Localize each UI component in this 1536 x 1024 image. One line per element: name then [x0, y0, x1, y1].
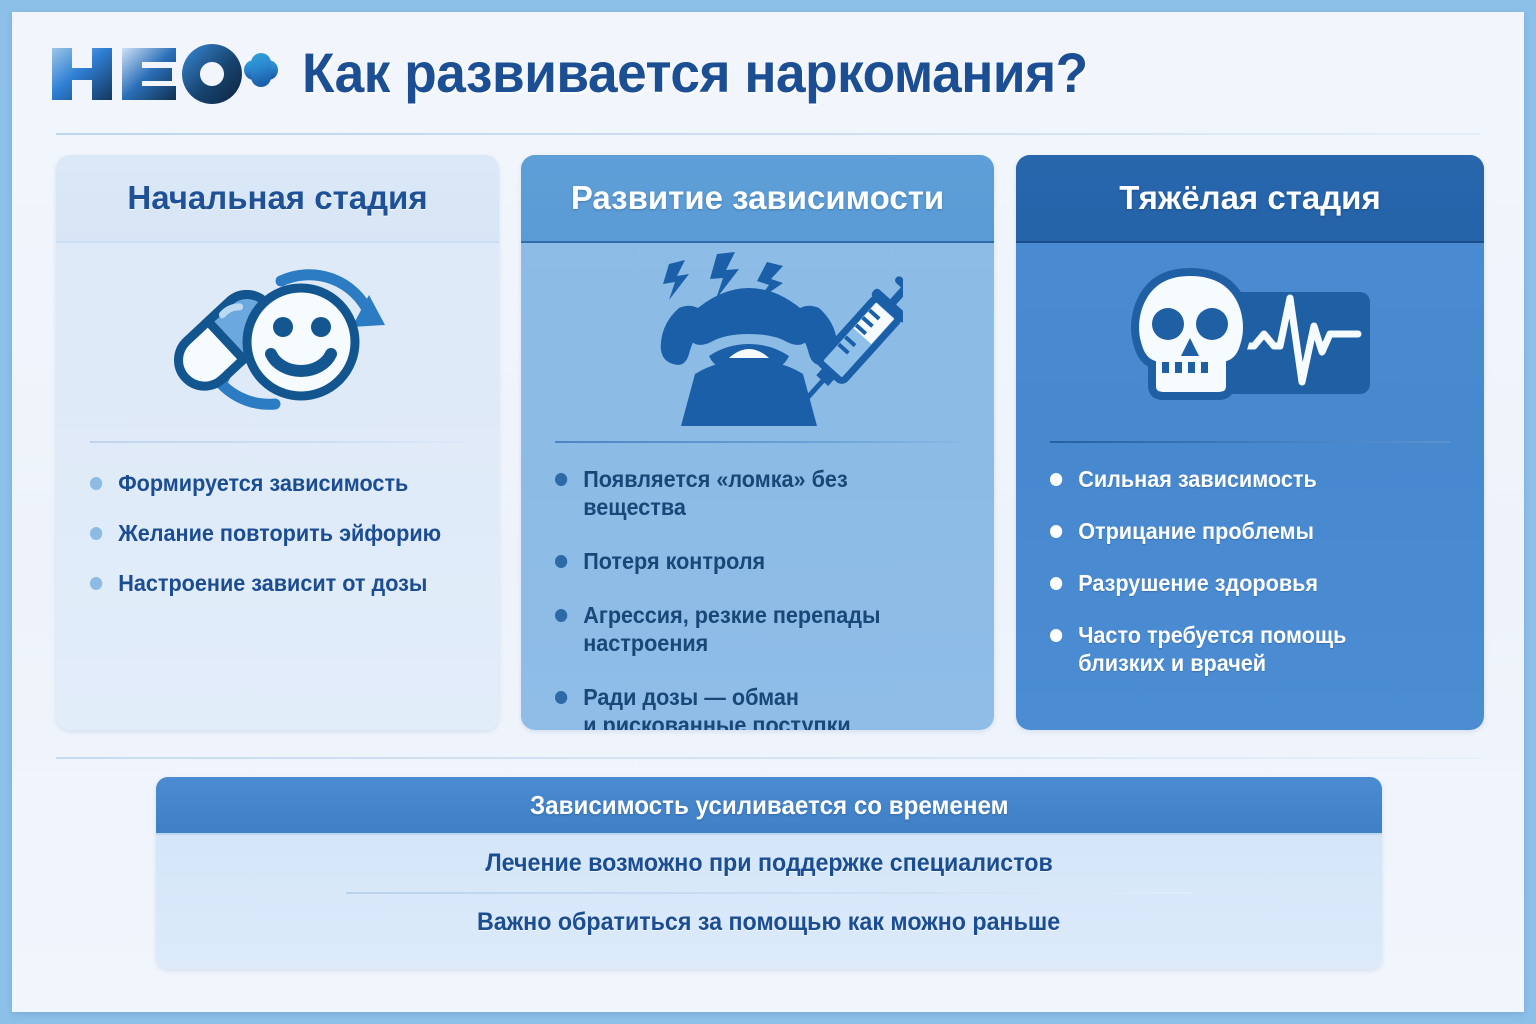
bullet-text: Появляется «ломка» без вещества: [583, 466, 848, 520]
bullet-text: Сильная зависимость: [1078, 466, 1317, 492]
pill-smiley-cycle-icon: [56, 243, 499, 441]
stage-bullets: Сильная зависимость Отрицание проблемы Р…: [1016, 465, 1484, 701]
stage-card-divider: [555, 441, 960, 443]
stage-bullets: Формируется зависимость Желание повторит…: [56, 465, 499, 597]
bullet-dot-icon: [1050, 629, 1062, 642]
summary-panel-padding: [156, 951, 1382, 969]
bullet-dot-icon: [555, 473, 567, 486]
summary-row-text: Лечение возможно при поддержке специалис…: [485, 849, 1052, 878]
neo-plus-logo: [48, 38, 278, 110]
stage-title: Развитие зависимости: [571, 179, 944, 217]
stage-bullets: Появляется «ломка» без вещества Потеря к…: [521, 465, 994, 730]
stage-card-severe[interactable]: Тяжёлая стадия: [1016, 155, 1484, 730]
bullet-dot-icon: [1050, 473, 1062, 486]
bullet-text: Агрессия, резкие перепады настроения: [583, 602, 880, 656]
stages-row: Начальная стадия: [56, 155, 1484, 730]
bullet-dot-icon: [90, 527, 102, 540]
bullet-text: Потеря контроля: [583, 548, 765, 574]
stage-card-severe-header: Тяжёлая стадия: [1016, 155, 1484, 243]
summary-rows: Лечение возможно при поддержке специалис…: [156, 835, 1382, 969]
page-title: Как развивается наркомания?: [302, 40, 1088, 105]
bullet-text: Ради дозы — обмани рискованные поступки: [583, 684, 851, 730]
summary-banner-text: Зависимость усиливается со временем: [530, 790, 1008, 821]
bullet-dot-icon: [1050, 577, 1062, 590]
stage-card-developing[interactable]: Развитие зависимости: [521, 155, 994, 730]
distressed-person-syringe-icon: [521, 243, 994, 441]
bullet-text: Отрицание проблемы: [1078, 518, 1314, 544]
infographic-frame: Как развивается наркомания? Начальная ст…: [12, 12, 1524, 1012]
bullet-text: Желание повторить эйфорию: [118, 520, 441, 546]
list-item: Настроение зависит от дозы: [90, 569, 452, 597]
stage-card-initial[interactable]: Начальная стадия: [56, 155, 499, 730]
bullet-dot-icon: [90, 477, 102, 490]
bullet-text: Настроение зависит от дозы: [118, 570, 427, 596]
bullet-text: Формируется зависимость: [118, 470, 408, 496]
bullet-text: Часто требуется помощьблизких и врачей: [1078, 622, 1346, 676]
skull-ecg-monitor-icon: [1016, 243, 1484, 441]
stage-card-initial-header: Начальная стадия: [56, 155, 499, 243]
summary-row: Важно обратиться за помощью как можно ра…: [156, 894, 1382, 951]
bullet-dot-icon: [555, 609, 567, 622]
summary-row: Лечение возможно при поддержке специалис…: [156, 835, 1382, 892]
section-divider: [56, 757, 1480, 759]
bullet-dot-icon: [1050, 525, 1062, 538]
bullet-dot-icon: [555, 691, 567, 704]
summary-banner: Зависимость усиливается со временем: [156, 777, 1382, 835]
summary-row-text: Важно обратиться за помощью как можно ра…: [477, 908, 1060, 937]
bullet-dot-icon: [555, 555, 567, 568]
stage-card-divider: [90, 441, 465, 443]
list-item: Часто требуется помощьблизких и врачей: [1050, 621, 1435, 677]
list-item: Потеря контроля: [555, 547, 945, 575]
list-item: Отрицание проблемы: [1050, 517, 1435, 545]
bullet-text: Разрушение здоровья: [1078, 570, 1318, 596]
header: Как развивается наркомания?: [12, 12, 1524, 133]
stage-title: Тяжёлая стадия: [1119, 179, 1380, 217]
list-item: Сильная зависимость: [1050, 465, 1435, 493]
summary-panel: Зависимость усиливается со временем Лече…: [156, 777, 1382, 969]
list-item: Ради дозы — обмани рискованные поступки: [555, 683, 945, 730]
list-item: Желание повторить эйфорию: [90, 519, 452, 547]
stage-card-developing-header: Развитие зависимости: [521, 155, 994, 243]
header-divider: [56, 133, 1480, 135]
list-item: Появляется «ломка» без вещества: [555, 465, 945, 521]
bullet-dot-icon: [90, 577, 102, 590]
stage-card-divider: [1050, 441, 1450, 443]
list-item: Разрушение здоровья: [1050, 569, 1435, 597]
list-item: Формируется зависимость: [90, 469, 452, 497]
list-item: Агрессия, резкие перепады настроения: [555, 601, 945, 657]
stage-title: Начальная стадия: [127, 179, 427, 217]
